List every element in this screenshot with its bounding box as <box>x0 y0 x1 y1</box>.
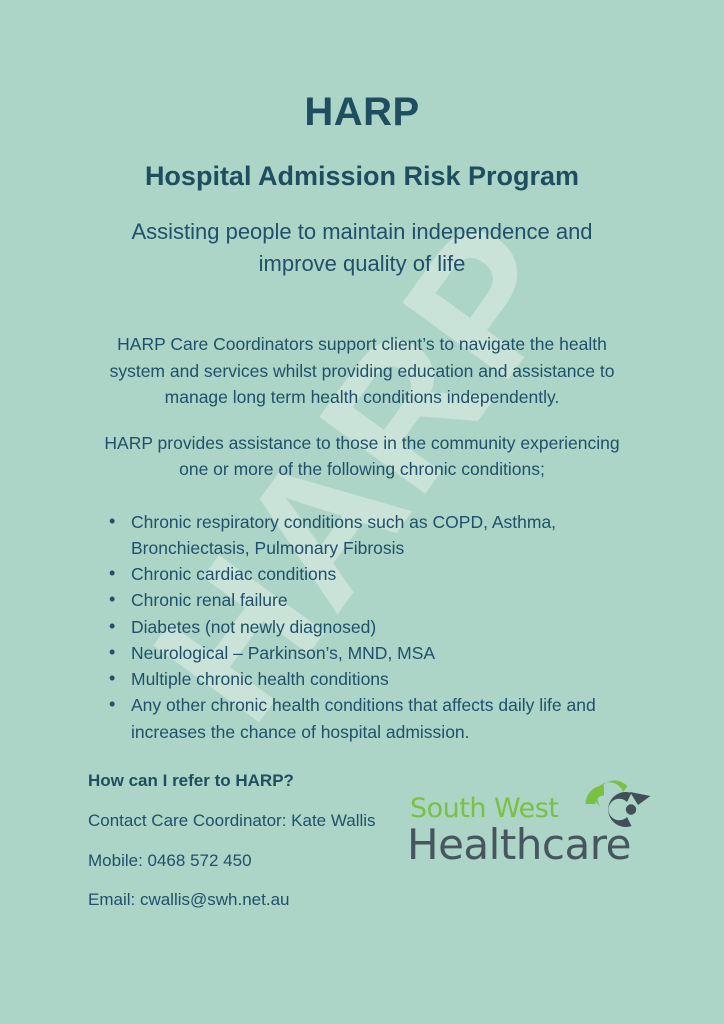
south-west-healthcare-logo: South West Healthcare <box>405 775 655 875</box>
list-item: Neurological – Parkinson’s, MND, MSA <box>104 640 644 666</box>
list-item: Chronic respiratory conditions such as C… <box>104 509 644 562</box>
page-subtitle: Hospital Admission Risk Program <box>0 132 724 192</box>
list-item: Multiple chronic health conditions <box>104 666 644 692</box>
page-tagline: Assisting people to maintain independenc… <box>117 192 607 280</box>
intro-paragraph-1: HARP Care Coordinators support client’s … <box>97 279 627 410</box>
intro-paragraph-2: HARP provides assistance to those in the… <box>92 410 632 483</box>
page-title: HARP <box>0 0 724 132</box>
list-item: Chronic renal failure <box>104 587 644 613</box>
list-item: Any other chronic health conditions that… <box>104 692 644 745</box>
swh-interlocking-arcs-icon <box>583 774 653 836</box>
list-item: Chronic cardiac conditions <box>104 561 644 587</box>
flyer-page: HARP HARP Hospital Admission Risk Progra… <box>0 0 724 1024</box>
email-line: Email: cwallis@swh.net.au <box>88 872 548 912</box>
chronic-conditions-list: Chronic respiratory conditions such as C… <box>104 483 644 745</box>
list-item: Diabetes (not newly diagnosed) <box>104 614 644 640</box>
